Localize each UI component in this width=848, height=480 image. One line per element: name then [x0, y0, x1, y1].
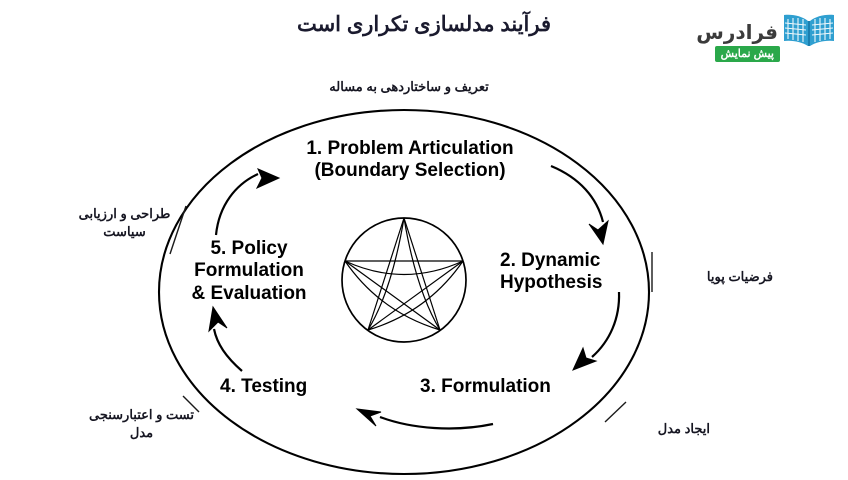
central-star-figure [342, 218, 466, 342]
arrow-3-to-4 [357, 409, 493, 428]
stage-label-formulation: 3. Formulation [420, 376, 600, 398]
annotation-model-testing: تست و اعتبارسنجی مدل [74, 406, 209, 441]
arrow-2-to-3 [573, 292, 619, 370]
annotation-model-creation: ایجاد مدل [600, 420, 710, 438]
stage-label-dynamic-hypothesis: 2. Dynamic Hypothesis [500, 250, 650, 295]
leader-bottom-right [605, 402, 626, 422]
stage-label-policy-formulation: 5. Policy Formulation & Evaluation [178, 238, 320, 305]
annotation-policy-design: طراحی و ارزیابی سیاست [62, 205, 187, 240]
annotation-dynamic-hypothesis: فرضیات پویا [663, 268, 773, 286]
stage-label-testing: 4. Testing [220, 376, 370, 398]
stage-label-problem-articulation: 1. Problem Articulation (Boundary Select… [260, 138, 560, 183]
diagram-page: فرآیند مدلسازی تکراری است فرادرس پیش نما… [0, 0, 848, 480]
annotation-problem-definition: تعریف و ساختاردهی به مساله [299, 78, 519, 96]
arrow-4-to-5 [209, 307, 242, 371]
